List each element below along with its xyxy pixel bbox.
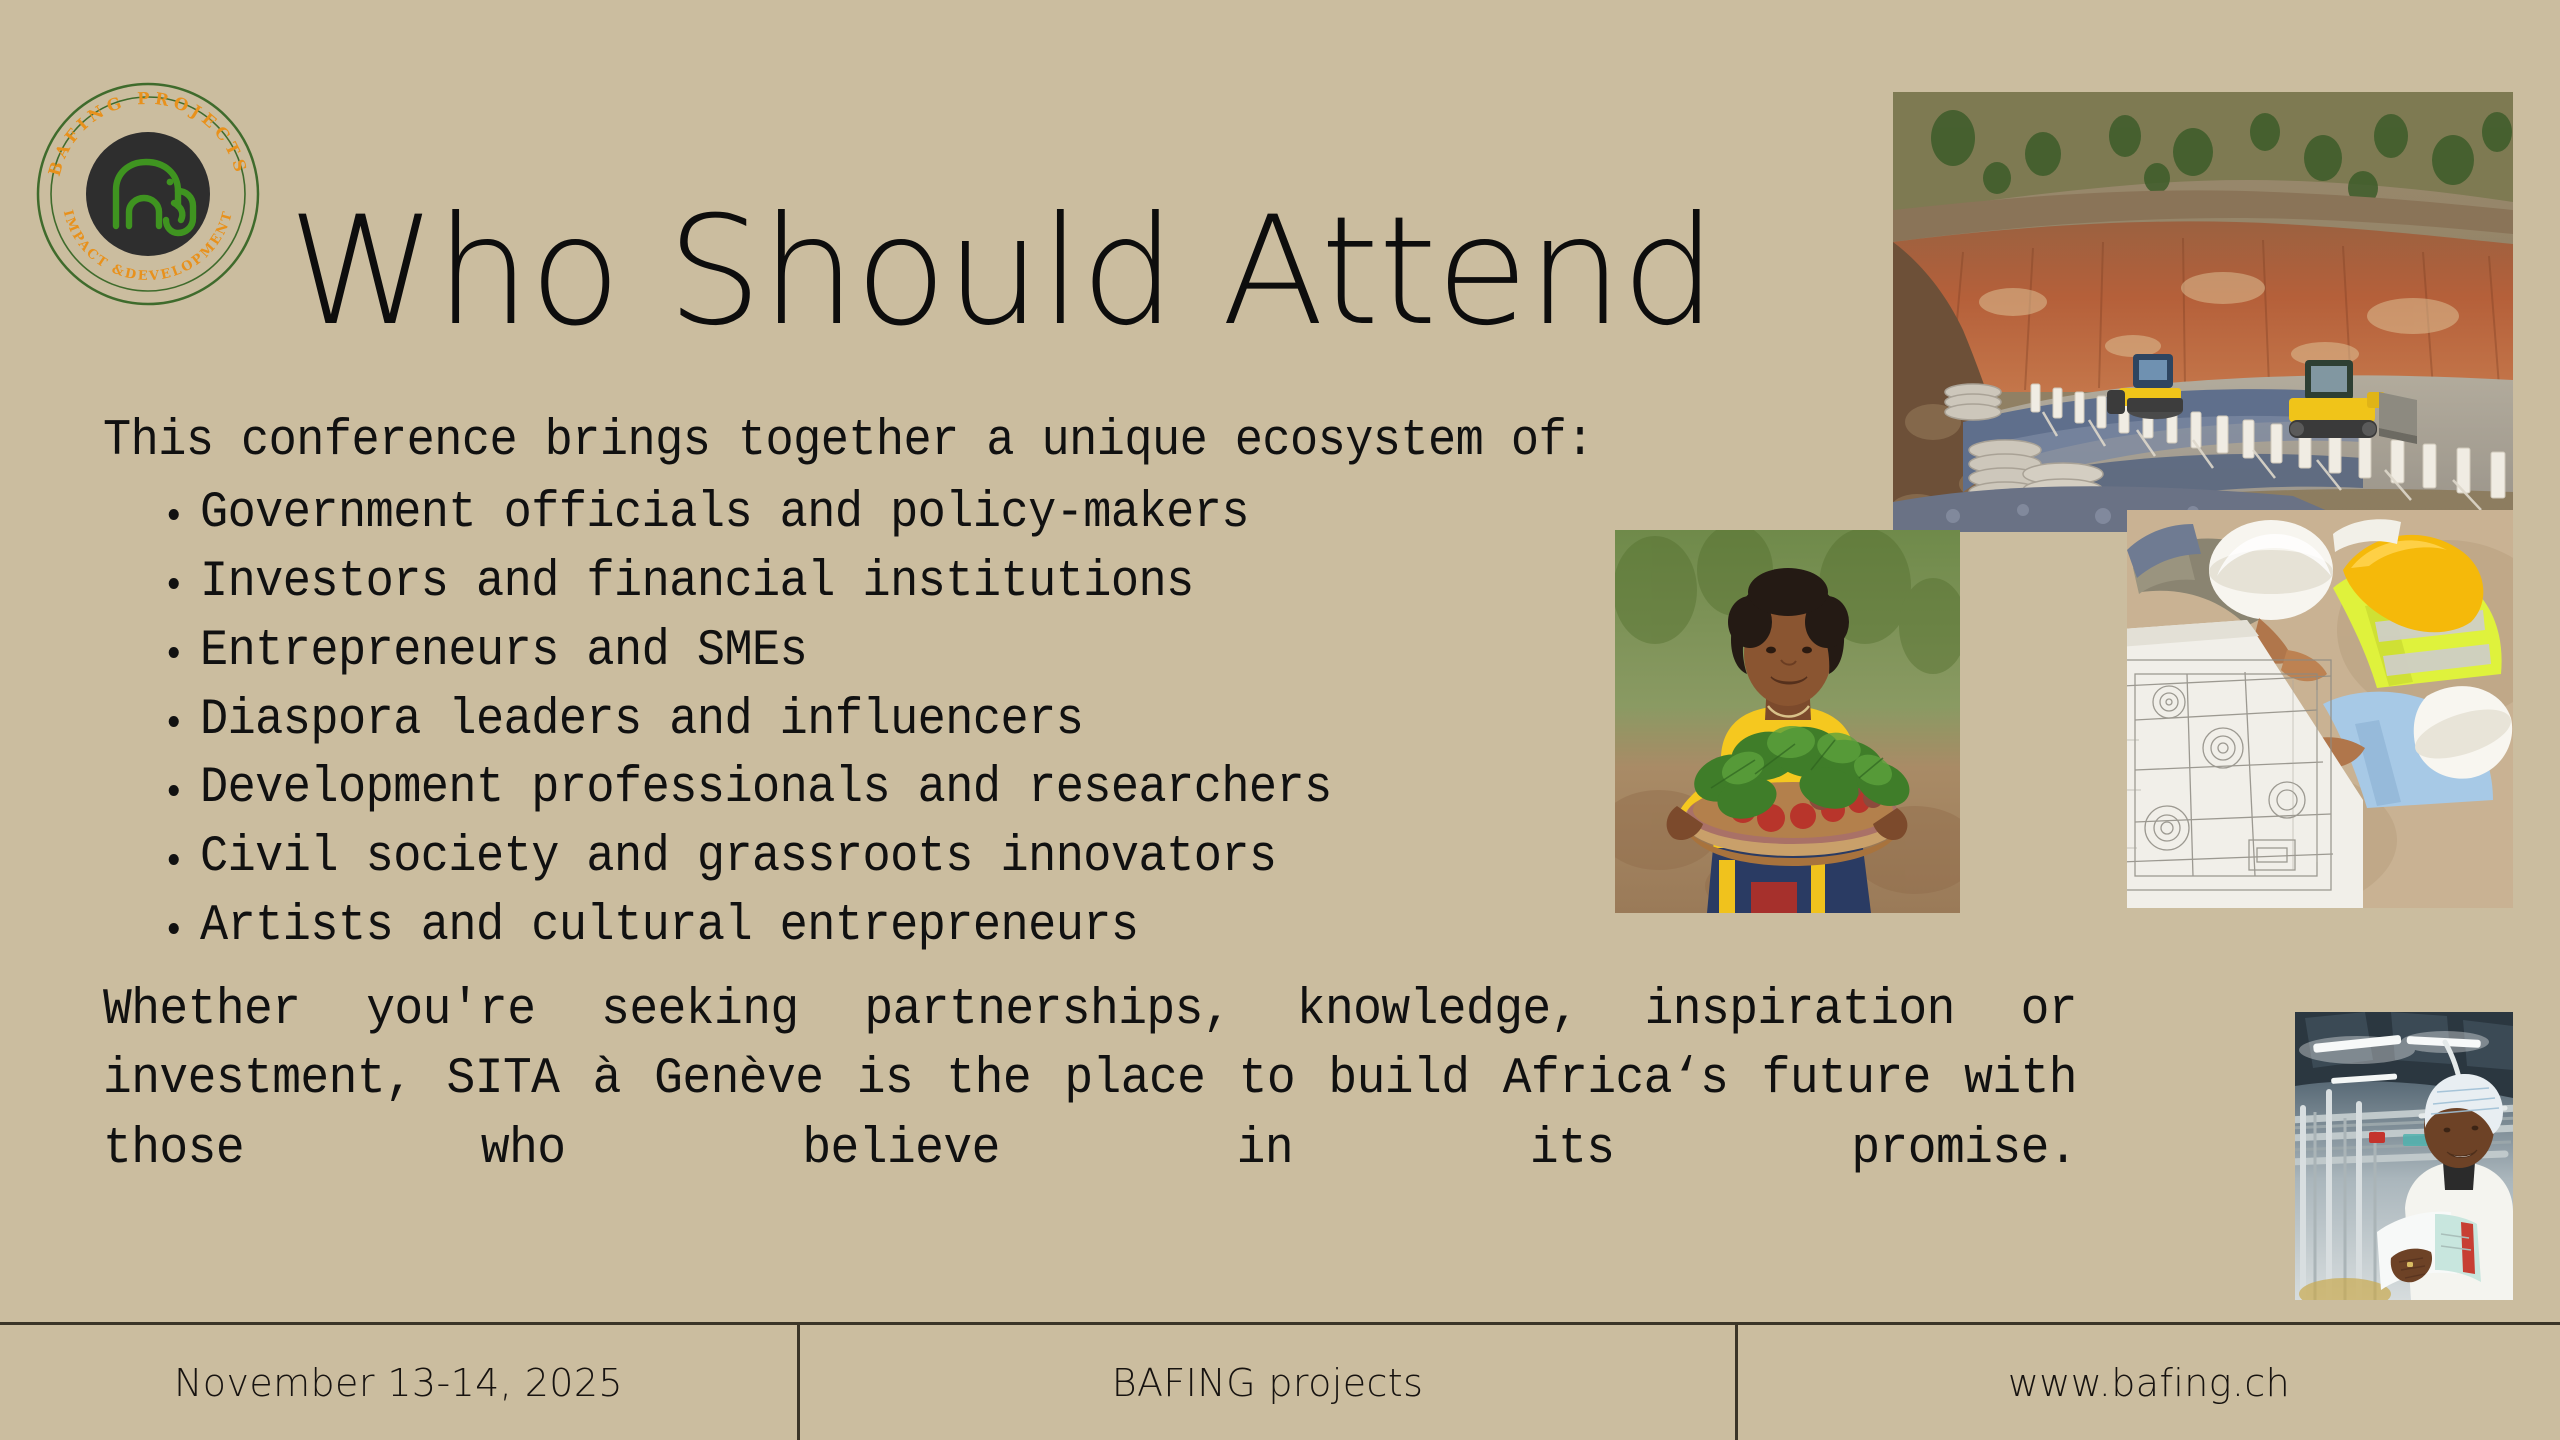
factory-quality-inspector-photo bbox=[2295, 1012, 2513, 1300]
footer-website[interactable]: www.bafing.ch bbox=[1738, 1325, 2560, 1440]
engineers-reviewing-blueprint-photo bbox=[2127, 510, 2513, 908]
footer-date: November 13-14, 2025 bbox=[0, 1325, 800, 1440]
footer-bar: November 13-14, 2025 BAFING projects www… bbox=[0, 1322, 2560, 1440]
page-title: Who Should Attend bbox=[288, 197, 1716, 347]
bafing-projects-logo: BAFING PROJECTS IMPACT &DEVELOPMENT bbox=[32, 78, 264, 310]
closing-paragraph: Whether you're seeking partnerships, kno… bbox=[103, 976, 2077, 1253]
slide-canvas: BAFING PROJECTS IMPACT &DEVELOPMENT Who … bbox=[0, 0, 2560, 1440]
footer-brand: BAFING projects bbox=[800, 1325, 1738, 1440]
farmer-with-harvest-photo bbox=[1615, 530, 1960, 913]
intro-line: This conference brings together a unique… bbox=[103, 415, 2044, 468]
road-construction-photo bbox=[1893, 92, 2513, 532]
